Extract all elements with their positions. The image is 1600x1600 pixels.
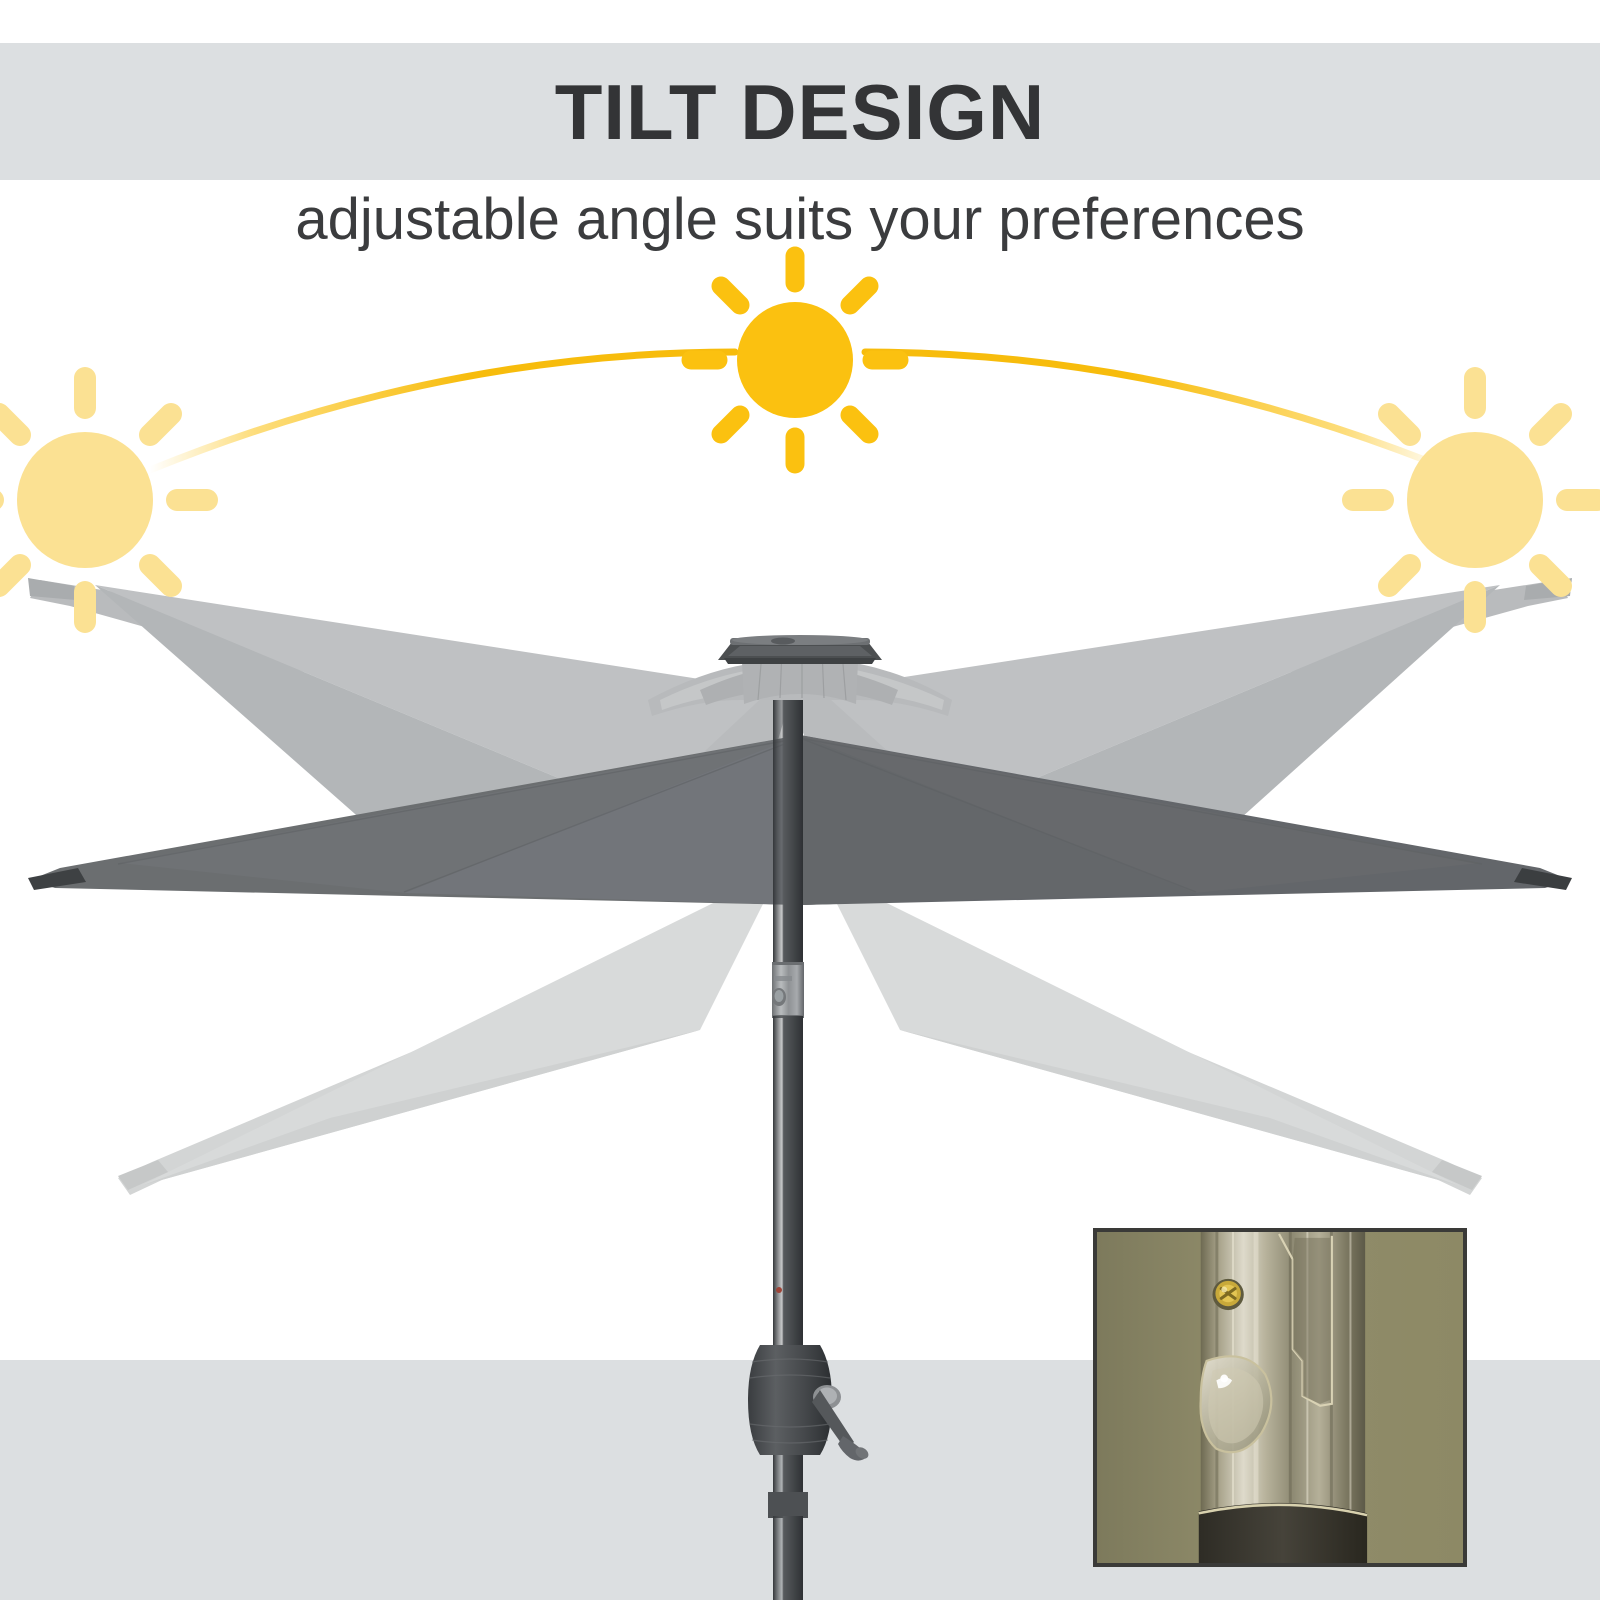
brass-screw [1212, 1279, 1243, 1310]
sun-center-bright-icon [691, 256, 899, 464]
tilt-mechanism-photo [1097, 1232, 1463, 1563]
sun-path-arc-right [865, 352, 1450, 470]
tilt-mechanism-inset[interactable] [1093, 1228, 1467, 1567]
sun-right-faded-icon [1353, 378, 1597, 622]
base-collar [1199, 1503, 1367, 1563]
infographic-canvas: TILT DESIGN adjustable angle suits your … [0, 0, 1600, 1600]
sun-path-arc-left [150, 352, 735, 470]
sun-left-faded-icon [0, 378, 207, 622]
